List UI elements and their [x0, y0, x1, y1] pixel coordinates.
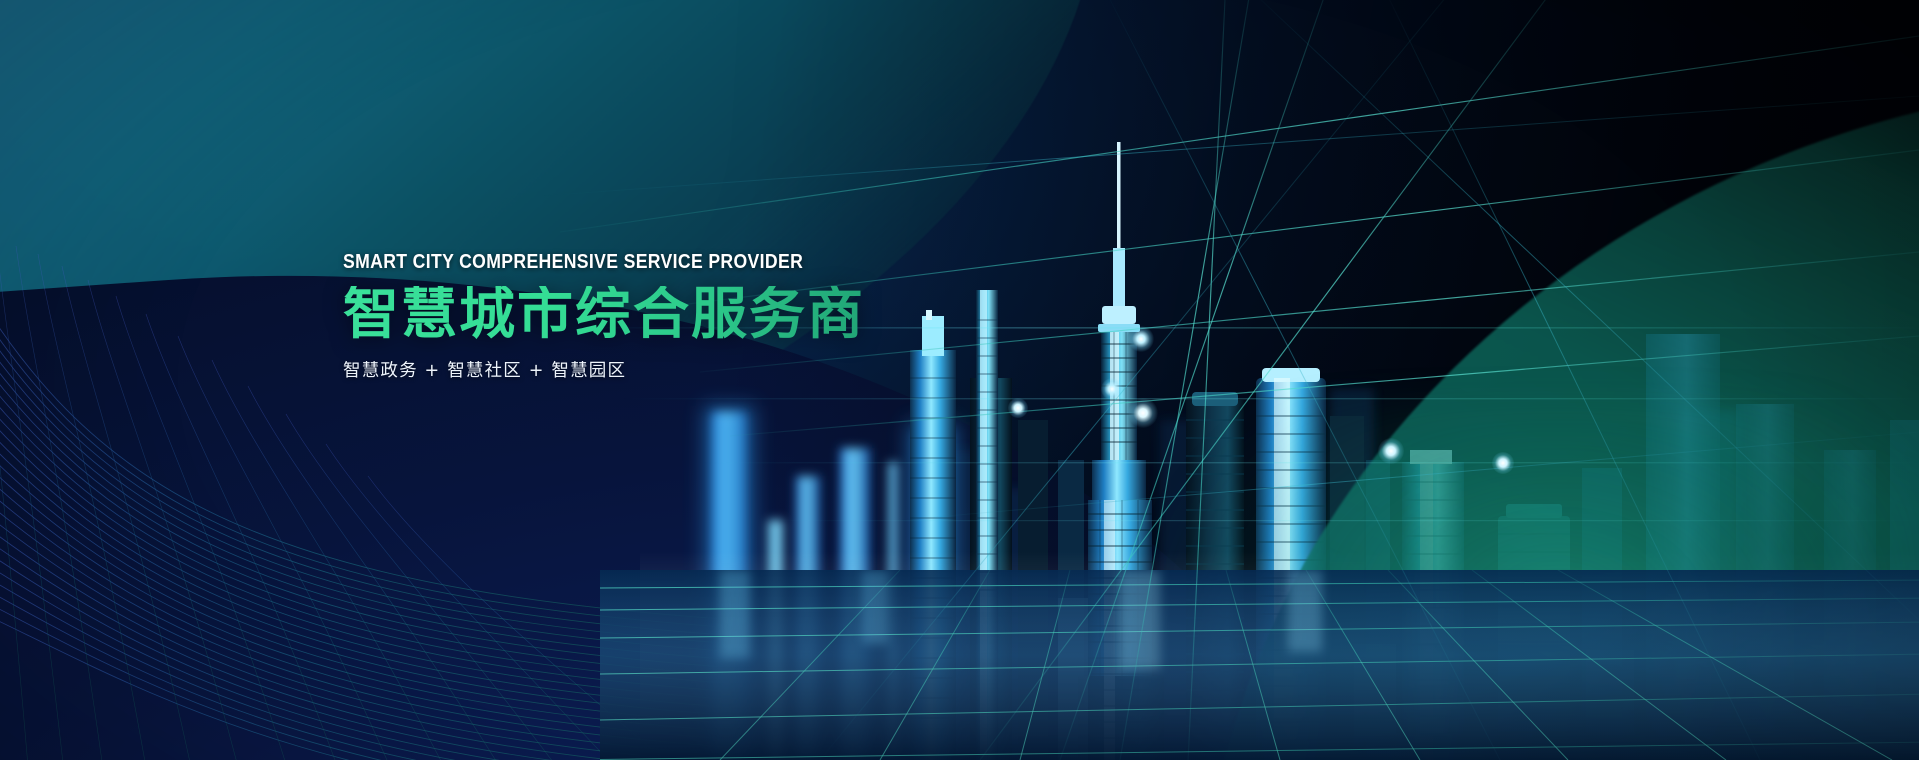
subtitle-text: 智慧政务 + 智慧社区 + 智慧园区: [343, 357, 1103, 382]
page-title: 智慧城市综合服务商: [343, 286, 1103, 343]
eyebrow-text: SMART CITY COMPREHENSIVE SERVICE PROVIDE…: [343, 250, 997, 274]
hero-copy-block: SMART CITY COMPREHENSIVE SERVICE PROVIDE…: [343, 250, 1103, 382]
smart-city-hero-banner: SMART CITY COMPREHENSIVE SERVICE PROVIDE…: [0, 0, 1919, 760]
